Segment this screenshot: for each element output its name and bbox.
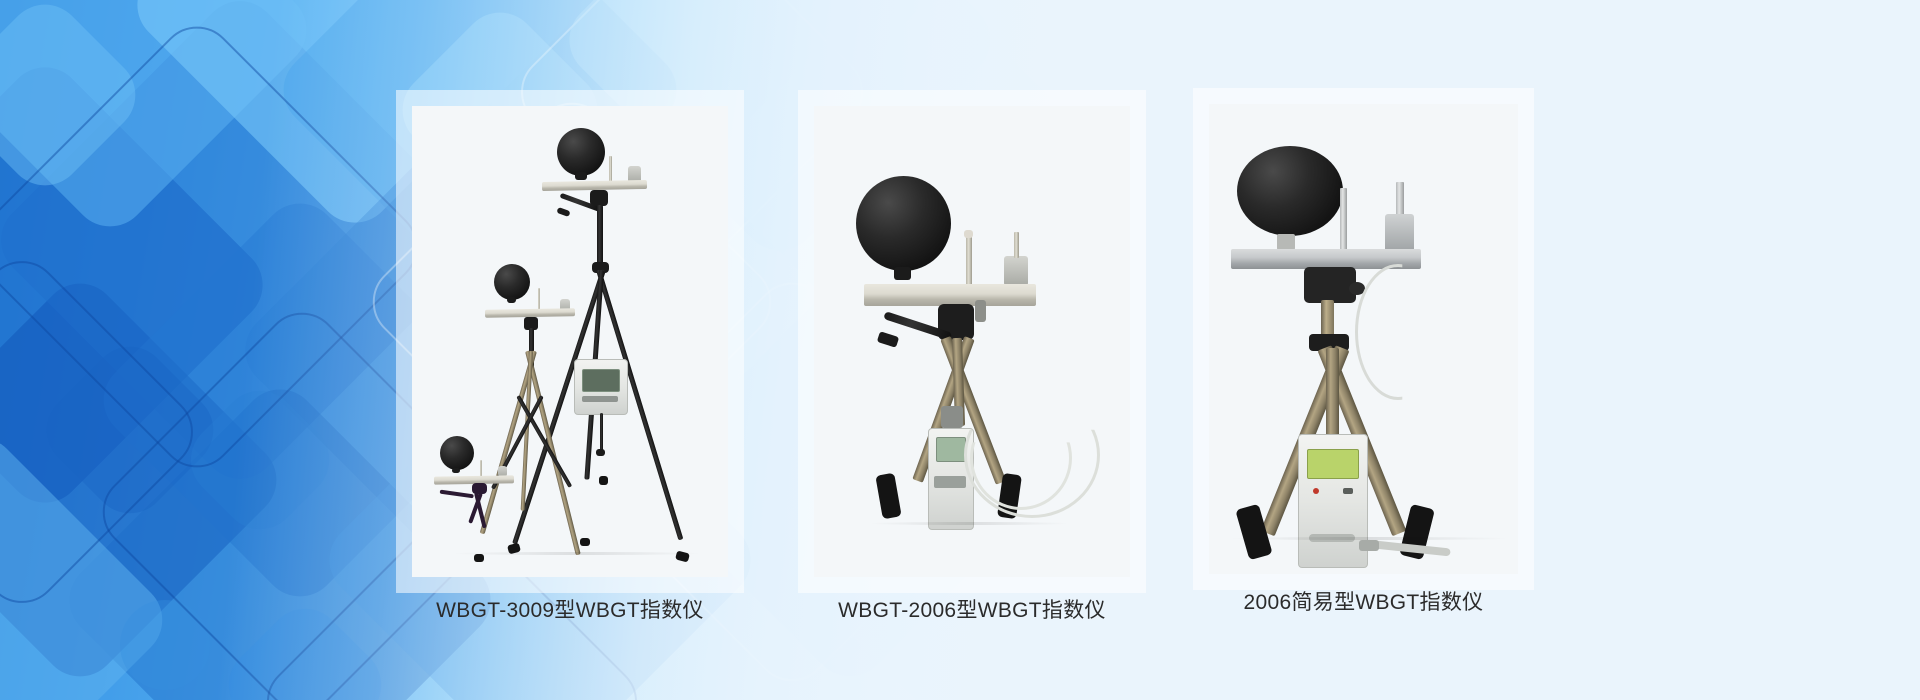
globe-thermometer: [557, 128, 605, 176]
globe-mount: [507, 297, 516, 303]
probe-tip: [596, 449, 605, 456]
product-card-wbgt-3009[interactable]: [396, 90, 744, 593]
lcd-display: [1307, 449, 1359, 479]
product-image-wbgt-3009: [412, 106, 728, 577]
sensor-crossbar: [864, 284, 1036, 306]
water-reservoir: [1385, 214, 1414, 252]
tripod-head: [1304, 267, 1356, 303]
pan-handle-grip: [877, 331, 899, 348]
lcd-display: [582, 369, 620, 392]
probe-cable: [600, 413, 603, 451]
tripod-foot: [599, 476, 608, 485]
tripod-foot: [580, 538, 590, 546]
product-card-wbgt-2006-simple[interactable]: [1193, 88, 1534, 590]
product-card-wbgt-2006[interactable]: [798, 90, 1146, 593]
ground-shadow: [1229, 537, 1509, 540]
center-column: [597, 205, 603, 267]
tripod-foot: [474, 554, 484, 562]
globe-mount: [452, 468, 460, 473]
flexible-leg: [440, 490, 474, 499]
power-switch: [1343, 488, 1353, 494]
banner-stage: WBGT-3009型WBGT指数仪: [0, 0, 1920, 700]
globe-thermometer: [856, 176, 951, 271]
ground-shadow: [869, 522, 1069, 525]
water-reservoir: [1004, 256, 1028, 286]
wet-bulb-stem: [538, 288, 540, 310]
globe-thermometer: [1237, 146, 1343, 236]
pan-handle-grip: [556, 207, 570, 217]
dry-bulb-stem: [1340, 188, 1347, 254]
product-image-wbgt-2006: [814, 106, 1130, 577]
sensor-hose: [970, 406, 1072, 510]
product-gallery: WBGT-3009型WBGT指数仪: [0, 0, 1920, 700]
globe-thermometer: [494, 264, 530, 300]
globe-mount: [1277, 234, 1295, 250]
reservoir-neck: [1014, 232, 1019, 258]
product-image-wbgt-2006-simple: [1209, 104, 1518, 574]
globe-thermometer: [440, 436, 474, 470]
meter-bracket: [941, 406, 963, 428]
wick-tip: [964, 230, 973, 238]
product-caption-wbgt-2006-simple: 2006简易型WBGT指数仪: [1133, 586, 1594, 616]
sensor-hose: [1355, 264, 1441, 400]
wet-bulb-stem: [966, 234, 972, 286]
connector: [975, 300, 986, 322]
keypad: [934, 476, 966, 488]
hose-connector: [1359, 540, 1379, 551]
globe-mount: [575, 172, 587, 180]
keypad: [582, 396, 618, 402]
product-caption-wbgt-3009: WBGT-3009型WBGT指数仪: [336, 594, 804, 624]
indicator-led: [1313, 488, 1319, 494]
globe-mount: [894, 267, 911, 280]
lcd-display: [936, 437, 966, 462]
tripod-foot: [875, 473, 901, 520]
wet-bulb-stem: [480, 460, 482, 477]
ground-shadow: [452, 552, 702, 555]
